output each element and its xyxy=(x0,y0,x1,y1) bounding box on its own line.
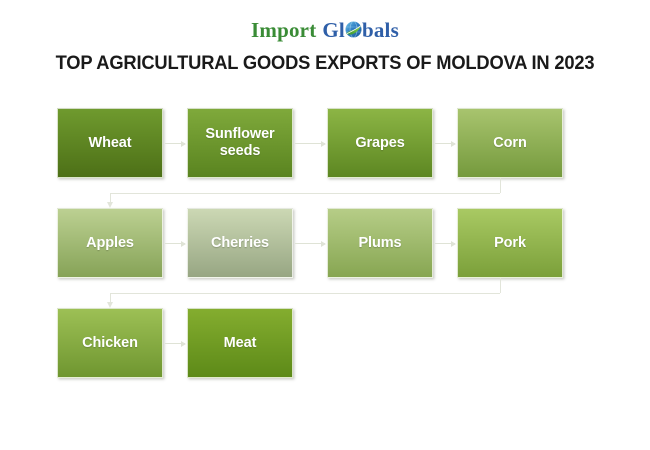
slide-canvas: Import Gl bals TOP AGRICULTURAL GOOD xyxy=(0,0,650,450)
connector-pork-to-chicken xyxy=(0,0,650,450)
flow-diagram: WheatSunflower seedsGrapesCornApplesCher… xyxy=(0,0,650,450)
connector-pork-to-chicken-segment-vertical-start xyxy=(500,278,501,293)
connector-pork-to-chicken-segment-horizontal xyxy=(110,293,500,294)
connector-pork-to-chicken-arrowhead xyxy=(107,302,113,308)
